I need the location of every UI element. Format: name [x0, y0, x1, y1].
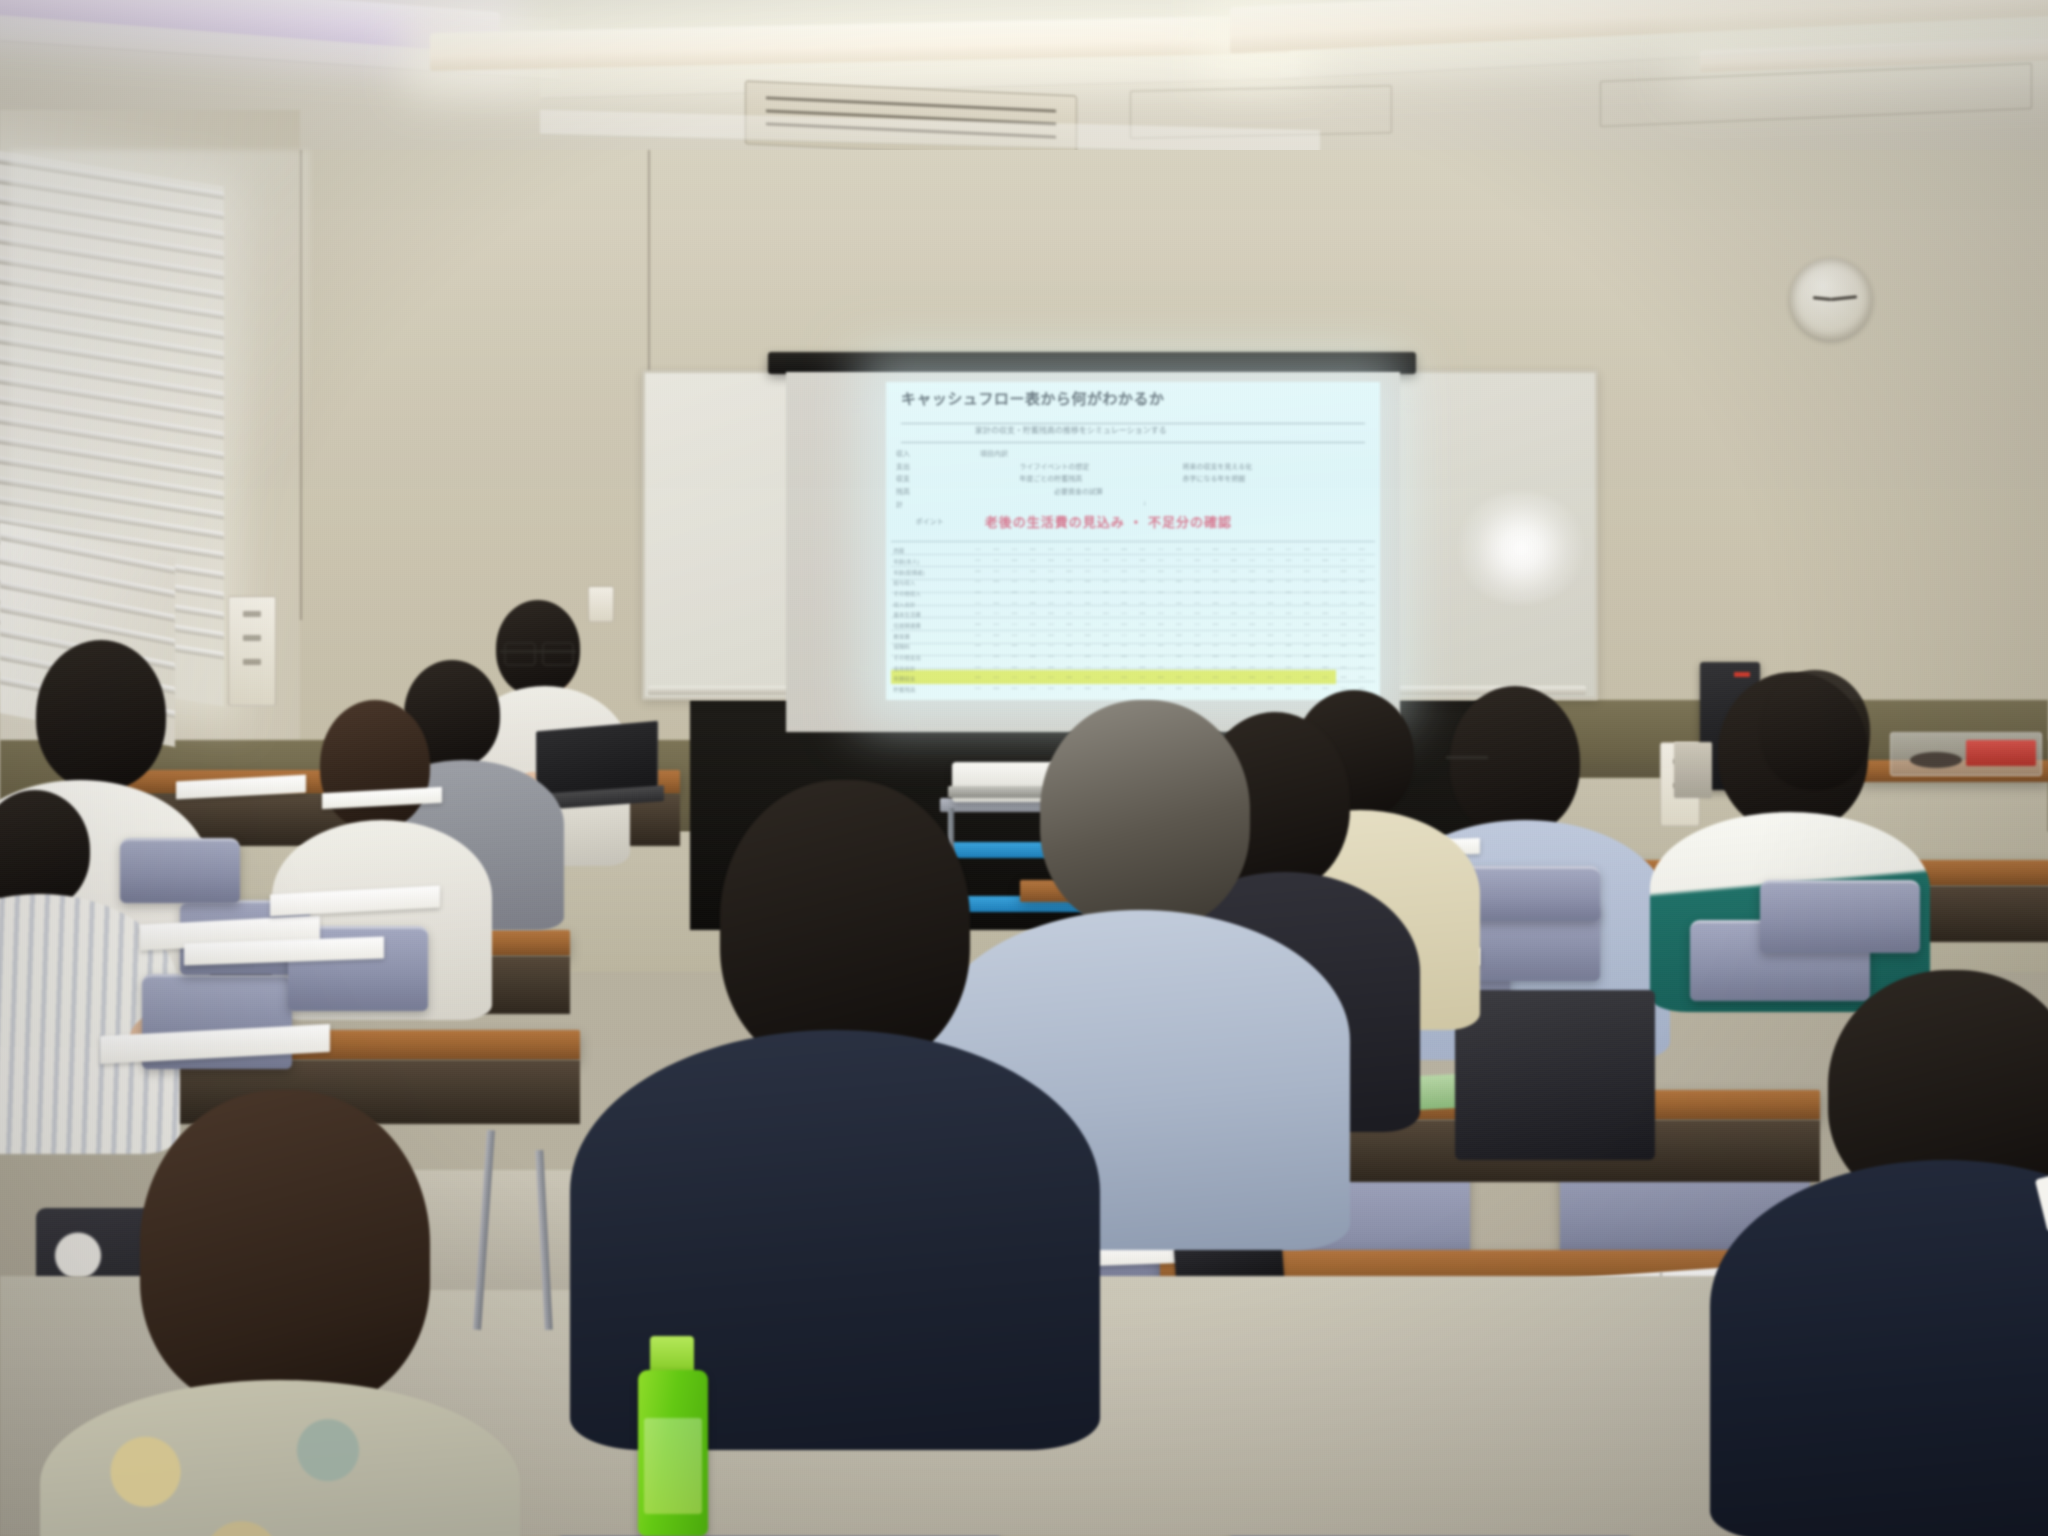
slide-table-cell: —: [993, 611, 999, 617]
slide-table-cell: —: [1267, 558, 1273, 564]
slide-table-cell: —: [1011, 643, 1017, 649]
slide-table-cell: —: [1213, 611, 1219, 617]
slide-table-cell: —: [1322, 675, 1328, 681]
slide-table-cell: —: [1286, 675, 1292, 681]
slide-table-cell: —: [1249, 590, 1255, 596]
slide-table-cell: —: [1322, 547, 1328, 553]
wall-clock: [1790, 258, 1872, 340]
slide-table-cell: —: [1267, 579, 1273, 585]
slide-table-cell: —: [1176, 611, 1182, 617]
slide-table-cell: —: [1249, 686, 1255, 692]
slide-table-cell: —: [1231, 622, 1237, 628]
slide-table-cell: —: [1158, 569, 1164, 575]
slide-table-cell: —: [1048, 665, 1054, 671]
slide-table-cell: —: [1121, 686, 1127, 692]
slide-table-cell: —: [1066, 601, 1072, 607]
slide-table-cell: —: [1066, 579, 1072, 585]
slide-table-cell: —: [975, 590, 981, 596]
slide-table-cell: —: [1340, 643, 1346, 649]
slide-table-cell: —: [1359, 611, 1365, 617]
slide-table-cell: —: [1103, 675, 1109, 681]
slide-table-cell: —: [1103, 633, 1109, 639]
slide-table-cell: —: [1213, 686, 1219, 692]
slide-table-cell: —: [1158, 654, 1164, 660]
slide-table-cell: —: [1322, 633, 1328, 639]
slide-table-cell: —: [1322, 590, 1328, 596]
slide-table-cell: —: [1158, 633, 1164, 639]
slide-table-cell: —: [1194, 590, 1200, 596]
slide-table-cell: —: [993, 547, 999, 553]
slide-table-cell: —: [1158, 686, 1164, 692]
slide-table-cell: —: [1139, 611, 1145, 617]
slide-table-cell: —: [1359, 622, 1365, 628]
slide-table-cell: —: [975, 654, 981, 660]
slide-table-cell: —: [1066, 643, 1072, 649]
slide-table-cell: —: [1267, 569, 1273, 575]
slide-table-cell: —: [1213, 622, 1219, 628]
slide-table-cell: —: [1194, 611, 1200, 617]
slide-table-cell: —: [1194, 633, 1200, 639]
slide-table-cell: —: [1194, 665, 1200, 671]
slide-table-cell: —: [1103, 686, 1109, 692]
slide-table-cell: —: [1213, 665, 1219, 671]
slide-table-cell: —: [1322, 579, 1328, 585]
slide-table-cell: —: [1304, 601, 1310, 607]
slide-table-cell: —: [1213, 569, 1219, 575]
slide-table-cell: —: [1030, 579, 1036, 585]
slide-table-cell: —: [1213, 601, 1219, 607]
slide-table-cell: —: [1304, 643, 1310, 649]
slide-row-label: 貯蓄残高: [893, 686, 915, 694]
slide-table-cell: —: [1194, 569, 1200, 575]
slide-table-cell: —: [1359, 665, 1365, 671]
speaker-stand: [1674, 742, 1712, 798]
slide-table-cell: —: [1231, 643, 1237, 649]
slide-table-cell: —: [1231, 665, 1237, 671]
slide-table-cell: —: [1030, 569, 1036, 575]
slide-table-cell: —: [1011, 611, 1017, 617]
slide-table-cell: —: [1085, 590, 1091, 596]
slide-table-cell: —: [1359, 579, 1365, 585]
slide-table-cell: —: [1340, 665, 1346, 671]
slide-table-cell: —: [1158, 665, 1164, 671]
slide-row-label: その他収入: [893, 590, 921, 598]
slide-table-cell: —: [1066, 558, 1072, 564]
slide-table-cell: —: [1030, 675, 1036, 681]
slide-table-cell: —: [1340, 654, 1346, 660]
slide-table-cell: —: [1085, 579, 1091, 585]
slide-table-cell: —: [1011, 590, 1017, 596]
slide-table-cell: —: [1085, 622, 1091, 628]
slide-table-cell: —: [1213, 558, 1219, 564]
slide-table-cell: —: [1249, 569, 1255, 575]
slide-row-label: 保険料: [893, 643, 910, 651]
slide-table-cell: —: [1158, 547, 1164, 553]
slide-table-cell: —: [1121, 579, 1127, 585]
slide-table-cell: —: [1213, 547, 1219, 553]
slide-table-cell: —: [975, 558, 981, 564]
slide-table-cell: —: [1340, 590, 1346, 596]
slide-table-cell: —: [1213, 590, 1219, 596]
slide-table-cell: —: [1322, 665, 1328, 671]
slide-table-cell: —: [1030, 590, 1036, 596]
slide-table-cell: —: [1011, 579, 1017, 585]
slide-table-cell: —: [1139, 622, 1145, 628]
slide-table-cell: —: [1103, 643, 1109, 649]
slide-table-cell: —: [1103, 601, 1109, 607]
red-box: [1966, 740, 2036, 766]
slide-table-cell: —: [1231, 569, 1237, 575]
slide-table-cell: —: [1103, 579, 1109, 585]
slide-table-cell: —: [1249, 611, 1255, 617]
slide-table-cell: —: [1249, 643, 1255, 649]
slide-table-cell: —: [1011, 601, 1017, 607]
slide-table-cell: —: [1158, 675, 1164, 681]
slide-table-cell: —: [1103, 590, 1109, 596]
slide-table-cell: —: [975, 675, 981, 681]
slide-table-cell: —: [1340, 547, 1346, 553]
slide-table-cell: —: [1176, 633, 1182, 639]
slide-table-cell: —: [1359, 558, 1365, 564]
slide-table-cell: —: [1085, 686, 1091, 692]
slide-table-cell: —: [1103, 665, 1109, 671]
slide-table-cell: —: [1048, 558, 1054, 564]
slide-table-cell: —: [1011, 633, 1017, 639]
whiteboard-glare: [1455, 492, 1587, 604]
slide-row-label: その他支出: [893, 654, 921, 662]
slide-table-cell: —: [1176, 643, 1182, 649]
slide-table-cell: —: [1011, 665, 1017, 671]
slide-table-cell: —: [1011, 622, 1017, 628]
slide-table-cell: —: [993, 633, 999, 639]
slide-table-cell: —: [975, 633, 981, 639]
chair: [120, 838, 240, 903]
slide-table-cell: —: [1194, 558, 1200, 564]
slide-table-cell: —: [1194, 547, 1200, 553]
slide-table-cell: —: [1286, 611, 1292, 617]
slide-table-cell: —: [1231, 579, 1237, 585]
slide-table-cell: —: [993, 654, 999, 660]
slide-table-cell: —: [1286, 665, 1292, 671]
slide-table-cell: —: [1121, 633, 1127, 639]
projection-screen-case: [768, 352, 1416, 374]
slide-table-cell: —: [1103, 611, 1109, 617]
slide-table-cell: —: [1231, 686, 1237, 692]
slide-table-cell: —: [1139, 633, 1145, 639]
slide-table-cell: —: [1286, 569, 1292, 575]
slide-table-cell: —: [1249, 579, 1255, 585]
slide-table-cell: —: [1085, 633, 1091, 639]
slide-table-cell: —: [1066, 569, 1072, 575]
slide-table-cell: —: [1286, 547, 1292, 553]
slide-row-label: 西暦: [893, 547, 904, 555]
slide-table-cell: —: [1066, 547, 1072, 553]
slide-table-cell: —: [1304, 622, 1310, 628]
slide-table-cell: —: [993, 579, 999, 585]
slide-row-label: 年間収支: [893, 675, 915, 683]
slide-table-cell: —: [1322, 601, 1328, 607]
slide-table-cell: —: [1267, 654, 1273, 660]
wall-corner: [300, 150, 302, 620]
slide-table-cell: —: [1322, 654, 1328, 660]
slide-table-cell: —: [993, 601, 999, 607]
slide-table-cell: —: [1158, 601, 1164, 607]
slide-table-cell: —: [1085, 569, 1091, 575]
slide-table-cell: —: [1194, 675, 1200, 681]
slide-table-cell: —: [1085, 611, 1091, 617]
slide-table-cell: —: [1139, 569, 1145, 575]
slide-table-cell: —: [1066, 686, 1072, 692]
slide-table-cell: —: [1359, 633, 1365, 639]
slide-table-cell: —: [1194, 601, 1200, 607]
slide-table-cell: —: [1030, 665, 1036, 671]
slide-table-cell: —: [1139, 601, 1145, 607]
slide-table-cell: —: [1048, 675, 1054, 681]
projected-slide: キャッシュフロー表から何がわかるか 家計の収支・貯蓄残高の推移をシミュレーション…: [886, 382, 1380, 700]
slide-table-cell: —: [1286, 654, 1292, 660]
slide-table-cell: —: [1030, 611, 1036, 617]
slide-table-cell: —: [1048, 622, 1054, 628]
slide-table-cell: —: [1231, 590, 1237, 596]
slide-table-cell: —: [1176, 622, 1182, 628]
slide-table-cell: —: [1121, 558, 1127, 564]
slide-table-cell: —: [1267, 675, 1273, 681]
slide-table-cell: —: [1249, 633, 1255, 639]
slide-table-cell: —: [975, 665, 981, 671]
slide-table-cell: —: [1011, 547, 1017, 553]
slide-table-cell: —: [993, 665, 999, 671]
slide-table-cell: —: [1139, 654, 1145, 660]
slide-table-cell: —: [1231, 654, 1237, 660]
slide-table-cell: —: [1085, 547, 1091, 553]
slide-table-cell: —: [1066, 622, 1072, 628]
slide-table-cell: —: [1231, 601, 1237, 607]
slide-table-cell: —: [1249, 675, 1255, 681]
slide-table-cell: —: [1194, 622, 1200, 628]
slide-table-cell: —: [975, 622, 981, 628]
slide-table-cell: —: [1048, 633, 1054, 639]
slide-table-cell: —: [1139, 590, 1145, 596]
slide-table-cell: —: [1267, 622, 1273, 628]
slide-table-cell: —: [1340, 675, 1346, 681]
slide-table-cell: —: [975, 569, 981, 575]
slide-table-cell: —: [1121, 654, 1127, 660]
slide-title: キャッシュフロー表から何がわかるか: [901, 388, 1365, 409]
slide-table-cell: —: [1158, 590, 1164, 596]
slide-table-cell: —: [1304, 547, 1310, 553]
slide-table-cell: —: [993, 590, 999, 596]
slide-table-cell: —: [1176, 675, 1182, 681]
slide-table-cell: —: [1213, 654, 1219, 660]
slide-row-label: 年齢(配偶者): [893, 569, 924, 577]
slide-table-cell: —: [1103, 622, 1109, 628]
slide-table-cell: —: [1030, 547, 1036, 553]
slide-table-cell: —: [1286, 590, 1292, 596]
slide-table-cell: —: [1213, 633, 1219, 639]
slide-table-cell: —: [1322, 558, 1328, 564]
slide-row-label: 住居関連費: [893, 622, 921, 630]
slide-table-cell: —: [975, 579, 981, 585]
slide-table-cell: —: [1139, 643, 1145, 649]
slide-table-cell: —: [1121, 590, 1127, 596]
slide-table-cell: —: [1158, 579, 1164, 585]
slide-table-cell: —: [1048, 686, 1054, 692]
slide-table-cell: —: [1176, 686, 1182, 692]
slide-table-cell: —: [1139, 686, 1145, 692]
slide-table-cell: —: [1085, 601, 1091, 607]
slide-table-cell: —: [1304, 611, 1310, 617]
slide-subtitle: 家計の収支・貯蓄残高の推移をシミュレーションする: [975, 425, 1167, 436]
slide-table-cell: —: [1267, 633, 1273, 639]
slide-table-cell: —: [975, 601, 981, 607]
slide-table-cell: —: [1322, 622, 1328, 628]
slide-table-cell: —: [1176, 569, 1182, 575]
black-backpack: [1455, 990, 1655, 1160]
slide-table-cell: —: [993, 622, 999, 628]
slide-table-cell: —: [1121, 665, 1127, 671]
slide-table-cell: —: [1322, 643, 1328, 649]
slide-table-cell: —: [1030, 622, 1036, 628]
slide-table-cell: —: [1304, 579, 1310, 585]
slide-table-cell: —: [1176, 590, 1182, 596]
slide-table-cell: —: [1286, 601, 1292, 607]
slide-table-cell: —: [1176, 547, 1182, 553]
slide-table-cell: —: [1085, 558, 1091, 564]
slide-table-cell: —: [1359, 569, 1365, 575]
slide-table-cell: —: [1267, 643, 1273, 649]
slide-table-cell: —: [1286, 558, 1292, 564]
slide-table-cell: —: [1103, 547, 1109, 553]
slide-table-cell: —: [1231, 675, 1237, 681]
slide-table-cell: —: [1011, 686, 1017, 692]
slide-row-label: 年齢(本人): [893, 558, 919, 566]
slide-table-cell: —: [1359, 590, 1365, 596]
slide-table-cell: —: [1066, 611, 1072, 617]
slide-table-cell: —: [1194, 686, 1200, 692]
slide-table-cell: —: [1286, 622, 1292, 628]
slide-table-cell: —: [1340, 633, 1346, 639]
slide-table-cell: —: [1030, 686, 1036, 692]
slide-table-cell: —: [1085, 665, 1091, 671]
slide-table-cell: —: [1048, 569, 1054, 575]
slide-table-cell: —: [1139, 675, 1145, 681]
slide-table-cell: —: [1340, 569, 1346, 575]
slide-table-cell: —: [993, 643, 999, 649]
slide-table-cell: —: [1286, 686, 1292, 692]
slide-table-cell: —: [1267, 547, 1273, 553]
slide-table-cell: —: [1066, 590, 1072, 596]
slide-row-label: 支出合計: [893, 665, 915, 673]
slide-table-cell: —: [1304, 558, 1310, 564]
slide-table-cell: —: [1139, 579, 1145, 585]
slide-row-label: 給与収入: [893, 579, 915, 587]
slide-table-cell: —: [1213, 579, 1219, 585]
slide-table-cell: —: [1231, 558, 1237, 564]
slide-table-cell: —: [1176, 558, 1182, 564]
photo-scene: キャッシュフロー表から何がわかるか 家計の収支・貯蓄残高の推移をシミュレーション…: [0, 0, 2048, 1536]
slide-row-label: 収入合計: [893, 601, 915, 609]
slide-table-cell: —: [1139, 665, 1145, 671]
slide-table-cell: —: [993, 569, 999, 575]
light-switch-plate: [228, 596, 276, 706]
slide-row-label: 教育費: [893, 633, 910, 641]
slide-table-cell: —: [1030, 654, 1036, 660]
object-on-desk: [1910, 752, 1962, 768]
slide-table-cell: —: [993, 686, 999, 692]
slide-table-cell: —: [1121, 547, 1127, 553]
slide-table-cell: —: [1011, 675, 1017, 681]
slide-table-cell: —: [1359, 675, 1365, 681]
slide-table-cell: —: [975, 686, 981, 692]
slide-table-cell: —: [1340, 601, 1346, 607]
slide-table-cell: —: [1213, 675, 1219, 681]
slide-table-cell: —: [1249, 558, 1255, 564]
slide-table-cell: —: [993, 558, 999, 564]
slide-table-cell: —: [1359, 654, 1365, 660]
slide-table-cell: —: [1194, 579, 1200, 585]
slide-table-cell: —: [1030, 633, 1036, 639]
slide-table-cell: —: [1030, 643, 1036, 649]
slide-table-cell: —: [1011, 569, 1017, 575]
slide-table-cell: —: [975, 643, 981, 649]
slide-table-cell: —: [1011, 558, 1017, 564]
slide-table-cell: —: [1121, 569, 1127, 575]
slide-table-cell: —: [1103, 654, 1109, 660]
slide-table-cell: —: [1194, 643, 1200, 649]
slide-table-cell: —: [1249, 665, 1255, 671]
slide-table-cell: —: [1158, 622, 1164, 628]
slide-table-cell: —: [1340, 622, 1346, 628]
slide-table-cell: —: [1085, 643, 1091, 649]
slide-table-cell: —: [1030, 558, 1036, 564]
slide-red-note: 老後の生活費の見込み ・ 不足分の確認: [985, 512, 1232, 531]
slide-table-cell: —: [1322, 569, 1328, 575]
chair: [1760, 880, 1920, 953]
slide-table-cell: —: [1322, 686, 1328, 692]
slide-table-cell: —: [1340, 579, 1346, 585]
slide-table-cell: —: [1103, 569, 1109, 575]
slide-table-cell: —: [1231, 611, 1237, 617]
slide-table-cell: —: [1048, 601, 1054, 607]
slide-table-cell: —: [1121, 675, 1127, 681]
slide-table-cell: —: [1249, 622, 1255, 628]
slide-table-cell: —: [1066, 654, 1072, 660]
slide-table-cell: —: [1085, 654, 1091, 660]
slide-table-cell: —: [975, 611, 981, 617]
slide-table-cell: —: [1359, 547, 1365, 553]
wall-outlet: [588, 586, 614, 622]
slide-table-cell: —: [1267, 665, 1273, 671]
slide-table-cell: —: [993, 675, 999, 681]
slide-table-cell: —: [1103, 558, 1109, 564]
slide-table-cell: —: [1048, 579, 1054, 585]
slide-table-cell: —: [1139, 558, 1145, 564]
slide-table-cell: —: [1286, 633, 1292, 639]
slide-table-cell: —: [1304, 675, 1310, 681]
slide-table-cell: —: [1359, 601, 1365, 607]
slide-table-cell: —: [1139, 547, 1145, 553]
slide-table-cell: —: [1121, 611, 1127, 617]
slide-table-cell: —: [1121, 601, 1127, 607]
slide-table-cell: —: [1176, 654, 1182, 660]
slide-table-cell: —: [1304, 665, 1310, 671]
slide-table-cell: —: [1048, 547, 1054, 553]
slide-table-cell: —: [1359, 643, 1365, 649]
slide-table-cell: —: [1286, 579, 1292, 585]
slide-table-cell: —: [1048, 643, 1054, 649]
slide-table-cell: —: [1085, 675, 1091, 681]
slide-table-cell: —: [1158, 558, 1164, 564]
